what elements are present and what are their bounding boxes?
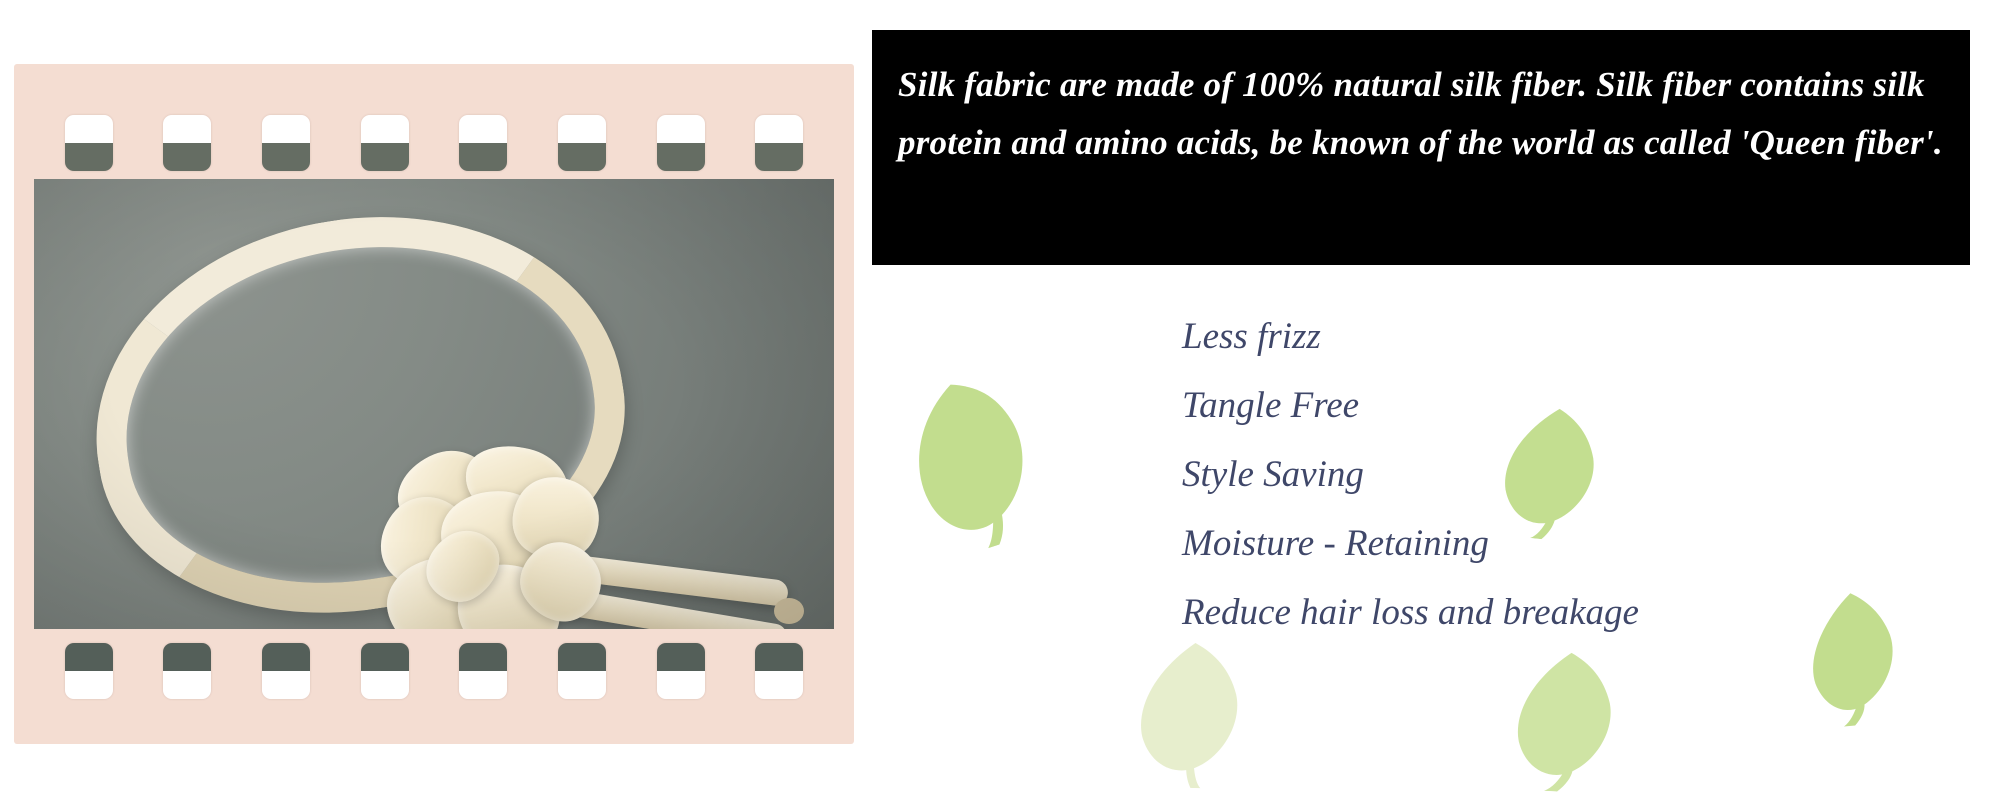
sprocket-hole bbox=[459, 115, 507, 171]
sprocket-hole bbox=[262, 643, 310, 699]
benefit-item: Style Saving bbox=[1182, 456, 1962, 493]
leaf-icon bbox=[876, 353, 1073, 567]
leaf-icon bbox=[1502, 645, 1633, 795]
sprocket-hole bbox=[262, 115, 310, 171]
sprocket-hole bbox=[657, 643, 705, 699]
filmstrip-frame bbox=[14, 64, 854, 744]
benefit-item: Reduce hair loss and breakage bbox=[1182, 594, 1962, 631]
sprocket-hole bbox=[459, 643, 507, 699]
promo-banner-page: Silk fabric are made of 100% natural sil… bbox=[0, 0, 2000, 800]
sprocket-hole bbox=[558, 643, 606, 699]
sprocket-hole bbox=[361, 643, 409, 699]
benefit-item: Less frizz bbox=[1182, 318, 1962, 355]
sprocket-row-top bbox=[14, 112, 854, 174]
description-text: Silk fabric are made of 100% natural sil… bbox=[898, 56, 1946, 172]
sprocket-hole bbox=[361, 115, 409, 171]
photo-vignette bbox=[34, 179, 834, 629]
sprocket-hole bbox=[163, 115, 211, 171]
benefit-item: Moisture - Retaining bbox=[1182, 525, 1962, 562]
sprocket-hole bbox=[65, 115, 113, 171]
benefits-list: Less frizz Tangle Free Style Saving Mois… bbox=[1182, 318, 1962, 663]
sprocket-row-bottom bbox=[14, 640, 854, 702]
product-photo bbox=[34, 179, 834, 629]
sprocket-hole bbox=[558, 115, 606, 171]
description-banner: Silk fabric are made of 100% natural sil… bbox=[872, 30, 1970, 265]
sprocket-hole bbox=[755, 643, 803, 699]
benefit-item: Tangle Free bbox=[1182, 387, 1962, 424]
sprocket-hole bbox=[65, 643, 113, 699]
sprocket-hole bbox=[755, 115, 803, 171]
sprocket-hole bbox=[163, 643, 211, 699]
sprocket-hole bbox=[657, 115, 705, 171]
